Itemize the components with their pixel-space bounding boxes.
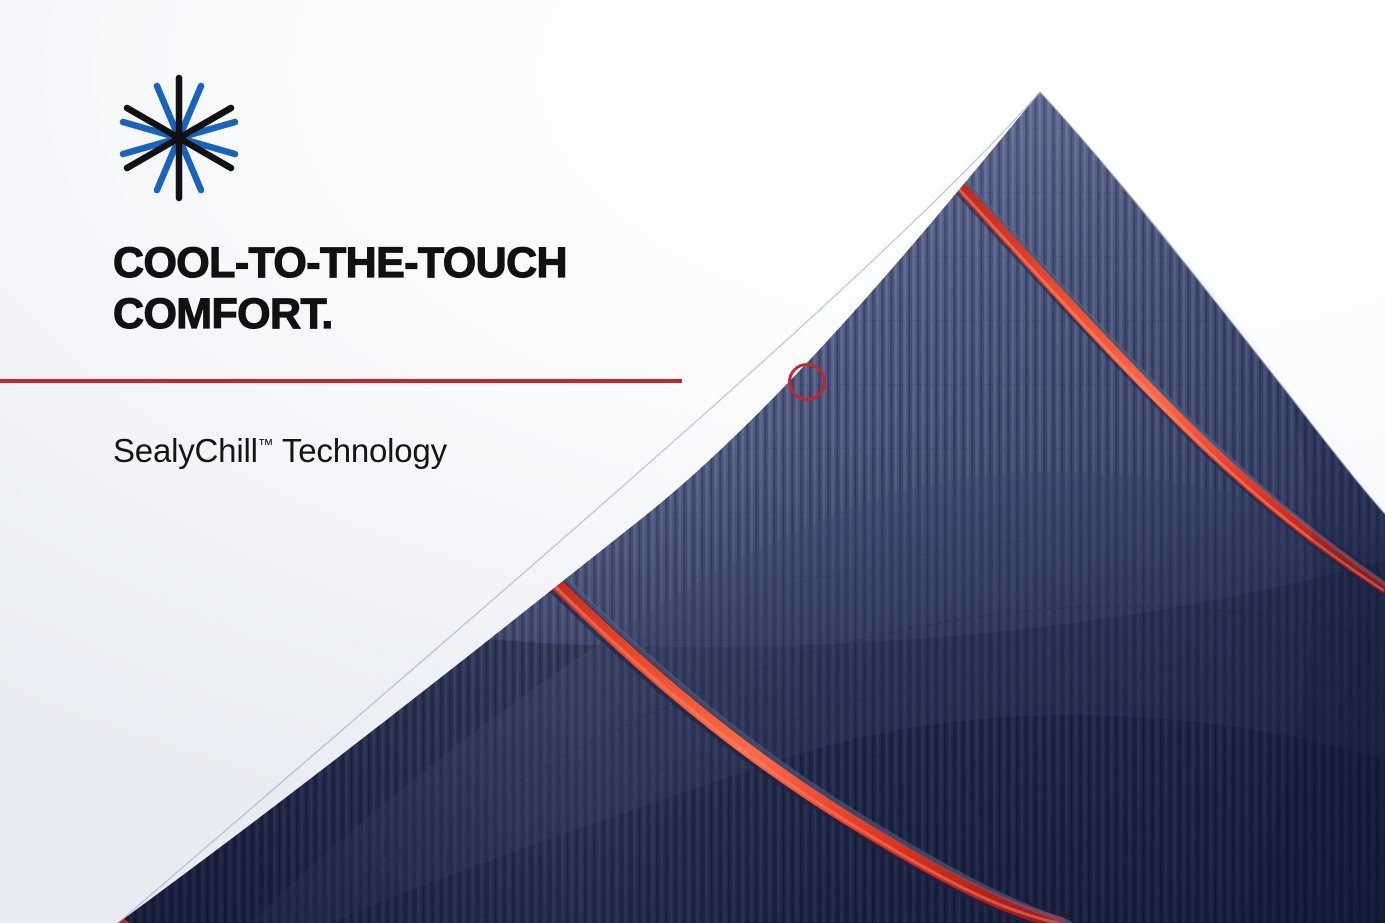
subtitle-brand: SealyChill xyxy=(113,432,258,469)
headline-line-2: COMFORT. xyxy=(113,290,333,338)
page-title: COOL-TO-THE-TOUCH COMFORT. xyxy=(113,238,773,339)
piping-corner-sliver xyxy=(104,905,130,923)
headline-line-1: COOL-TO-THE-TOUCH xyxy=(113,239,567,287)
callout-leader-line xyxy=(0,379,682,383)
promo-banner: COOL-TO-THE-TOUCH COMFORT. SealyChill™ T… xyxy=(0,0,1385,923)
snowflake-black-axes xyxy=(127,78,231,198)
subtitle: SealyChill™ Technology xyxy=(113,432,447,470)
snowflake-icon-glyph xyxy=(113,72,245,204)
subtitle-suffix: Technology xyxy=(274,432,447,469)
callout-circle-marker xyxy=(788,363,826,401)
trademark-symbol: ™ xyxy=(258,437,274,454)
snowflake-icon xyxy=(113,72,245,204)
